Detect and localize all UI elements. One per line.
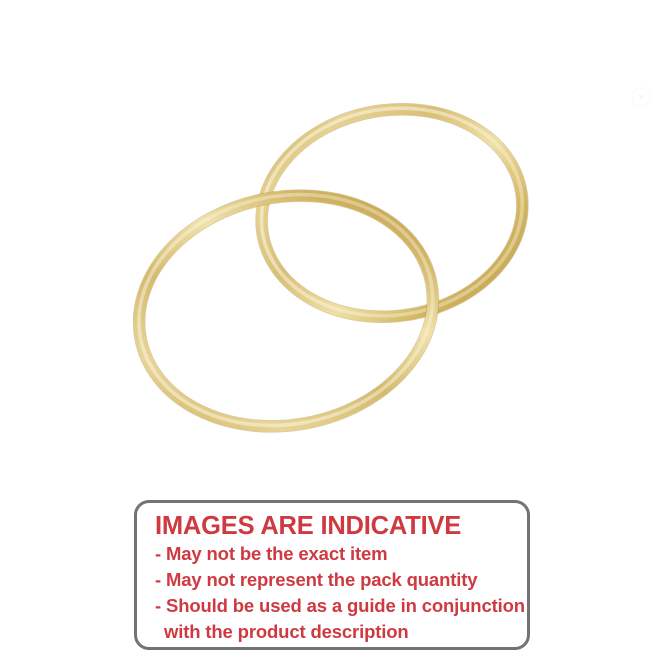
o-ring-upper-right [246, 90, 537, 335]
product-image [0, 0, 670, 480]
notice-line-guide-conjunction: - Should be used as a guide in conjuncti… [155, 593, 517, 619]
o-rings-illustration [0, 0, 670, 480]
images-are-indicative-box: IMAGES ARE INDICATIVE - May not be the e… [134, 500, 530, 650]
notice-line-product-description: with the product description [155, 619, 517, 645]
notice-line-pack-quantity: - May not represent the pack quantity [155, 567, 517, 593]
screenshot-canvas: IMAGES ARE INDICATIVE - May not be the e… [0, 0, 670, 670]
indicative-title: IMAGES ARE INDICATIVE [155, 511, 517, 541]
notice-line-exact-item: - May not be the exact item [155, 541, 517, 567]
